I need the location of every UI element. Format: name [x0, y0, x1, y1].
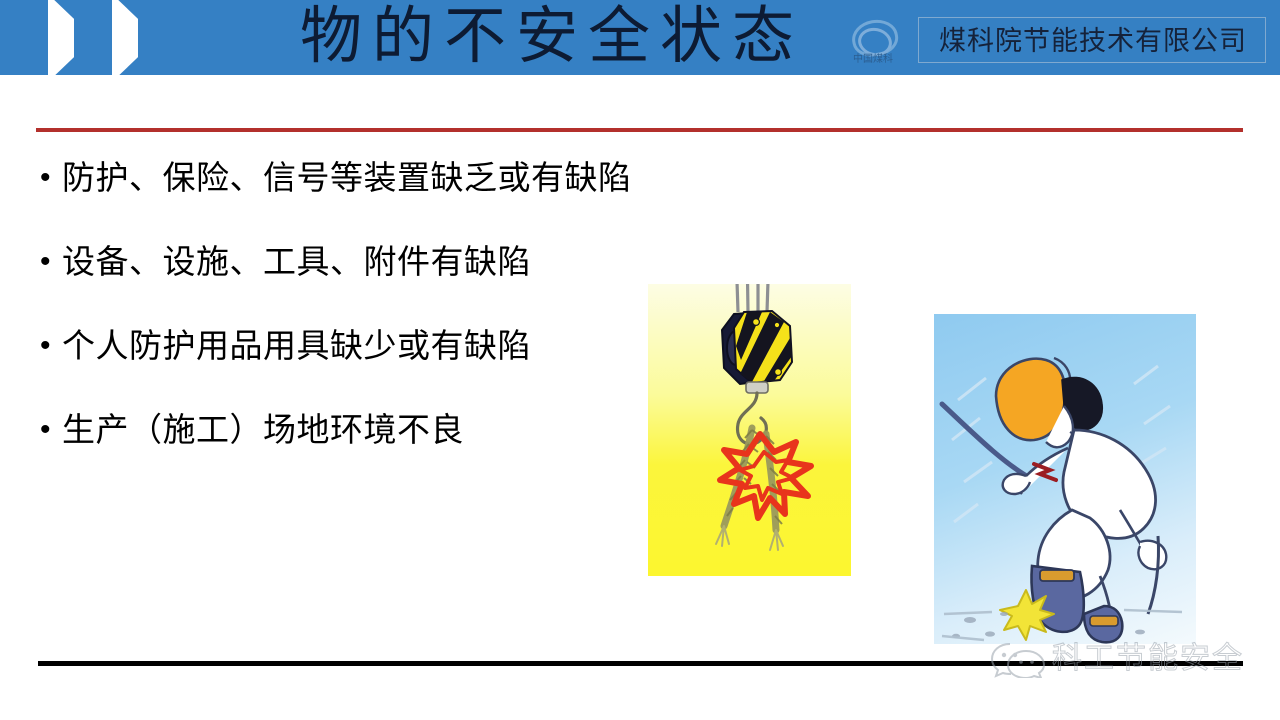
logo-watermark-label: 中国煤科: [846, 50, 900, 65]
footer-watermark: 科工节能安全: [990, 638, 1270, 682]
company-name-box: 煤科院节能技术有限公司: [918, 17, 1266, 63]
list-item: • 个人防护用品用具缺少或有缺陷: [40, 320, 700, 378]
company-name-label: 煤科院节能技术有限公司: [919, 18, 1267, 64]
slide-header: 物的不安全状态 中国煤科 煤科院节能技术有限公司: [0, 0, 1280, 75]
wechat-icon: [990, 640, 1046, 678]
list-item: • 生产（施工）场地环境不良: [40, 404, 700, 462]
bullet-marker: •: [40, 152, 62, 204]
divider-top: [36, 128, 1243, 132]
bullet-text: 设备、设施、工具、附件有缺陷: [62, 236, 531, 288]
bullet-text: 防护、保险、信号等装置缺乏或有缺陷: [62, 152, 632, 204]
list-item: • 防护、保险、信号等装置缺乏或有缺陷: [40, 152, 700, 210]
footer-watermark-label: 科工节能安全: [1052, 638, 1244, 680]
list-item: • 设备、设施、工具、附件有缺陷: [40, 236, 700, 294]
brand-logo-watermark: 中国煤科: [846, 18, 900, 70]
page-title: 物的不安全状态: [300, 0, 940, 75]
slide-root: 物的不安全状态 中国煤科 煤科院节能技术有限公司 • 防护、保险、信号等装置缺乏…: [0, 0, 1280, 720]
bullet-text: 个人防护用品用具缺少或有缺陷: [62, 320, 531, 372]
bullet-text: 生产（施工）场地环境不良: [62, 404, 464, 456]
chevron-notch-2: [138, 0, 184, 75]
image-hoist-block-frayed-rope: [648, 284, 851, 576]
bullet-marker: •: [40, 320, 62, 372]
image-worker-without-protective-gear: [934, 314, 1196, 644]
bullet-marker: •: [40, 404, 62, 456]
bullet-list: • 防护、保险、信号等装置缺乏或有缺陷 • 设备、设施、工具、附件有缺陷 • 个…: [40, 152, 700, 488]
bullet-marker: •: [40, 236, 62, 288]
